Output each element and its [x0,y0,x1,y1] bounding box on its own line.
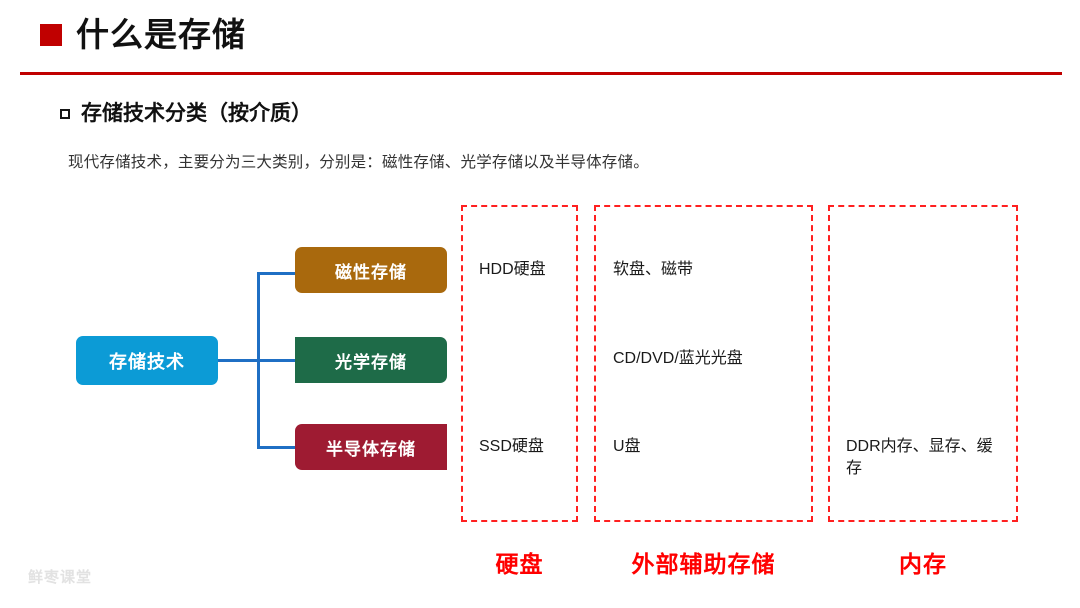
connector-root-stub [218,359,260,362]
connector-branch-2 [257,359,297,362]
item-ssd-disk: SSD硬盘 [479,436,544,458]
item-usb-drive: U盘 [613,436,641,458]
group-box-hard-disk [461,205,578,522]
node-semiconductor-storage[interactable]: 半导体存储 [295,424,447,470]
connector-branch-1 [257,272,297,275]
title-bullet-icon [40,24,62,46]
title-divider [20,72,1062,75]
page-title: 什么是存储 [40,18,246,51]
node-storage-technology[interactable]: 存储技术 [76,336,218,385]
subheading: 存储技术分类（按介质） [60,103,312,124]
caption-external-storage: 外部辅助存储 [594,545,813,579]
item-floppy-tape: 软盘、磁带 [613,259,693,281]
caption-memory: 内存 [828,545,1018,579]
node-magnetic-storage[interactable]: 磁性存储 [295,247,447,293]
item-ddr-memory: DDR内存、显存、缓存 [846,436,1006,479]
body-paragraph: 现代存储技术，主要分为三大类别，分别是：磁性存储、光学存储以及半导体存储。 [68,150,649,172]
square-bullet-icon [60,109,70,119]
page-title-text: 什么是存储 [76,18,246,51]
watermark: 鲜枣课堂 [28,566,92,587]
subheading-text: 存储技术分类（按介质） [81,103,312,124]
caption-hard-disk: 硬盘 [461,545,578,579]
item-optical-disc: CD/DVD/蓝光光盘 [613,348,743,370]
item-hdd-disk: HDD硬盘 [479,259,546,281]
node-optical-storage[interactable]: 光学存储 [295,337,447,383]
connector-branch-3 [257,446,297,449]
